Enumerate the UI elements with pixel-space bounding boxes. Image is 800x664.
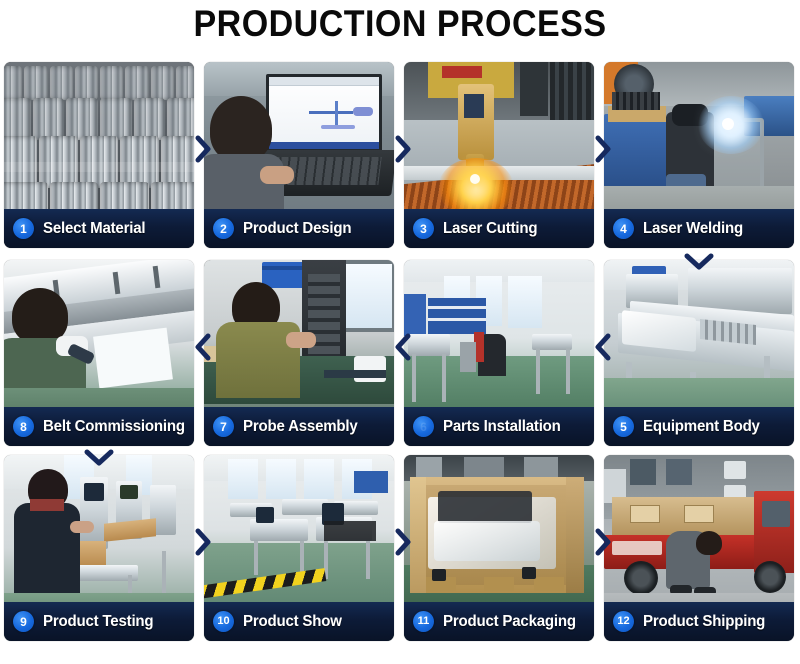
step-caption: 12 Product Shipping bbox=[604, 602, 794, 641]
step-label: Product Testing bbox=[43, 613, 153, 631]
step-caption: 3 Laser Cutting bbox=[404, 209, 594, 248]
step-caption: 7 Probe Assembly bbox=[204, 407, 394, 446]
process-step-card[interactable]: 2 Product Design bbox=[204, 62, 394, 248]
process-row-3: 9 Product Testing bbox=[0, 455, 800, 641]
step-label: Select Material bbox=[43, 220, 145, 238]
step-label: Laser Welding bbox=[643, 220, 743, 238]
step-caption: 11 Product Packaging bbox=[404, 602, 594, 641]
process-grid: 1 Select Material bbox=[0, 58, 800, 664]
infographic-page: PRODUCTION PROCESS 1 Select Material bbox=[0, 0, 800, 664]
step-label: Belt Commissioning bbox=[43, 418, 185, 436]
step-label: Probe Assembly bbox=[243, 418, 358, 436]
chevron-right-icon bbox=[390, 525, 416, 559]
step-label: Product Show bbox=[243, 613, 342, 631]
step-label: Equipment Body bbox=[643, 418, 760, 436]
process-step-card[interactable]: 8 Belt Commissioning bbox=[4, 260, 194, 446]
process-step-card[interactable]: 9 Product Testing bbox=[4, 455, 194, 641]
step-caption: 8 Belt Commissioning bbox=[4, 407, 194, 446]
step-caption: 1 Select Material bbox=[4, 209, 194, 248]
process-step-card[interactable]: 12 Product Shipping bbox=[604, 455, 794, 641]
step-number-badge: 12 bbox=[613, 611, 634, 632]
process-row-1: 1 Select Material bbox=[0, 62, 800, 248]
process-step-card[interactable]: 7 Probe Assembly bbox=[204, 260, 394, 446]
step-caption: 2 Product Design bbox=[204, 209, 394, 248]
chevron-down-icon bbox=[79, 445, 119, 469]
process-step-card[interactable]: 6 Parts Installation bbox=[404, 260, 594, 446]
chevron-right-icon bbox=[190, 132, 216, 166]
step-caption: 4 Laser Welding bbox=[604, 209, 794, 248]
chevron-right-icon bbox=[390, 132, 416, 166]
step-label: Product Design bbox=[243, 220, 351, 238]
chevron-right-icon bbox=[190, 525, 216, 559]
page-title: PRODUCTION PROCESS bbox=[32, 2, 768, 46]
chevron-left-icon bbox=[590, 330, 616, 364]
chevron-down-icon bbox=[679, 249, 719, 273]
chevron-left-icon bbox=[190, 330, 216, 364]
step-label: Laser Cutting bbox=[443, 220, 537, 238]
process-row-2: 8 Belt Commissioning bbox=[0, 260, 800, 446]
step-number-badge: 8 bbox=[13, 416, 34, 437]
step-caption: 9 Product Testing bbox=[4, 602, 194, 641]
step-number-badge: 11 bbox=[413, 611, 434, 632]
chevron-left-icon bbox=[390, 330, 416, 364]
step-number-badge: 6 bbox=[413, 416, 434, 437]
step-number-badge: 5 bbox=[613, 416, 634, 437]
step-label: Product Shipping bbox=[643, 613, 765, 631]
step-label: Product Packaging bbox=[443, 613, 576, 631]
step-caption: 10 Product Show bbox=[204, 602, 394, 641]
step-number-badge: 1 bbox=[13, 218, 34, 239]
step-label: Parts Installation bbox=[443, 418, 561, 436]
step-number-badge: 7 bbox=[213, 416, 234, 437]
chevron-right-icon bbox=[590, 525, 616, 559]
chevron-right-icon bbox=[590, 132, 616, 166]
step-caption: 5 Equipment Body bbox=[604, 407, 794, 446]
process-step-card[interactable]: 3 Laser Cutting bbox=[404, 62, 594, 248]
process-step-card[interactable]: 1 Select Material bbox=[4, 62, 194, 248]
step-number-badge: 3 bbox=[413, 218, 434, 239]
process-step-card[interactable]: 11 Product Packaging bbox=[404, 455, 594, 641]
process-step-card[interactable]: 4 Laser Welding bbox=[604, 62, 794, 248]
process-step-card[interactable]: 5 Equipment Body bbox=[604, 260, 794, 446]
step-number-badge: 4 bbox=[613, 218, 634, 239]
process-step-card[interactable]: 10 Product Show bbox=[204, 455, 394, 641]
step-number-badge: 9 bbox=[13, 611, 34, 632]
step-number-badge: 2 bbox=[213, 218, 234, 239]
step-caption: 6 Parts Installation bbox=[404, 407, 594, 446]
step-number-badge: 10 bbox=[213, 611, 234, 632]
